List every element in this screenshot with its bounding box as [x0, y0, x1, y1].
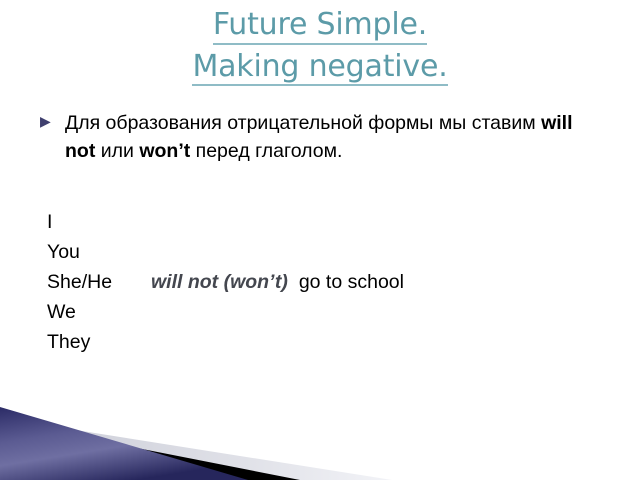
- decorative-triangles-svg: [0, 400, 640, 480]
- formula-row: We: [47, 297, 404, 327]
- slide-canvas: Future Simple. Making negative. ▶ Для об…: [0, 0, 640, 480]
- triangle-bullet-icon: ▶: [40, 111, 51, 132]
- title-line-2: Making negative.: [192, 50, 447, 87]
- pronoun-label: We: [47, 297, 151, 327]
- pronoun-label: You: [47, 237, 151, 267]
- bullet-segment-2: или: [95, 140, 139, 162]
- auxiliary-negative-text: will not (won’t): [151, 267, 299, 297]
- decor-black-wedge: [0, 421, 300, 480]
- negative-formula-table: IYouShe/Hewill not (won’t)go to schoolWe…: [47, 207, 404, 357]
- formula-row: You: [47, 237, 404, 267]
- bullet-paragraph-text: Для образования отрицательной формы мы с…: [65, 110, 608, 165]
- pronoun-label: They: [47, 327, 151, 357]
- title-line-1: Future Simple.: [213, 8, 427, 45]
- pronoun-label: She/He: [47, 267, 151, 297]
- decor-navy-wedge: [0, 407, 248, 480]
- formula-row: I: [47, 207, 404, 237]
- formula-row: They: [47, 327, 404, 357]
- formula-row: She/Hewill not (won’t)go to school: [47, 267, 404, 297]
- body-content: ▶ Для образования отрицательной формы мы…: [38, 110, 608, 169]
- bullet-segment-4: перед глаголом.: [190, 140, 342, 162]
- decorative-corner-banner: [0, 400, 640, 480]
- bullet-paragraph: ▶ Для образования отрицательной формы мы…: [38, 110, 608, 165]
- bullet-segment-0: Для образования отрицательной формы мы с…: [65, 112, 541, 134]
- page-title: Future Simple. Making negative.: [0, 8, 640, 91]
- pronoun-label: I: [47, 207, 151, 237]
- decor-gray-wedge: [0, 418, 392, 480]
- bullet-segment-3: won’t: [139, 140, 190, 162]
- predicate-text: go to school: [299, 267, 404, 297]
